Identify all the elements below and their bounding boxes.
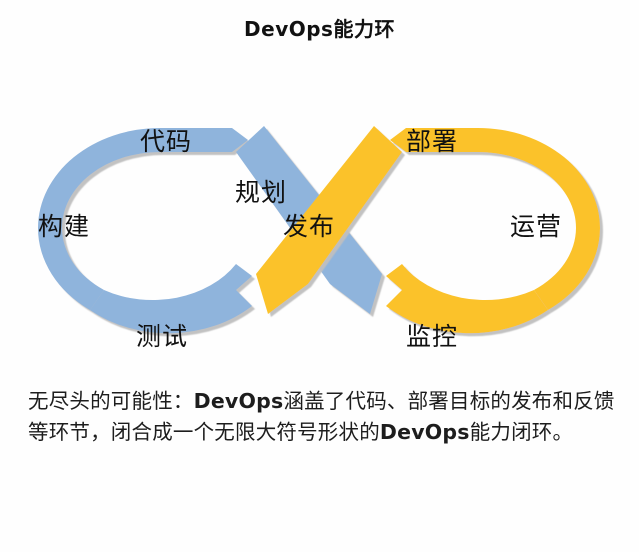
ops-loop-group	[256, 126, 600, 333]
caption-brand-2: DevOps	[380, 420, 470, 444]
segment-build	[38, 228, 104, 310]
caption-tail: 能力闭环。	[470, 420, 574, 444]
segment-deploy	[390, 128, 600, 228]
segment-monitor	[386, 264, 548, 333]
devops-infinity-diagram: 代码 构建 测试 规划 部署 运营 监控 发布	[0, 78, 639, 378]
page-title: DevOps能力环	[0, 13, 639, 42]
caption-text: 无尽头的可能性：DevOps涵盖了代码、部署目标的发布和反馈等环节，闭合成一个无…	[28, 386, 618, 448]
segment-code	[38, 128, 248, 228]
infinity-loop-svg	[0, 78, 639, 378]
caption-brand-1: DevOps	[194, 389, 284, 413]
segment-test	[90, 264, 252, 333]
segment-operate	[534, 228, 600, 310]
caption-lead: 无尽头的可能性：	[28, 389, 194, 413]
